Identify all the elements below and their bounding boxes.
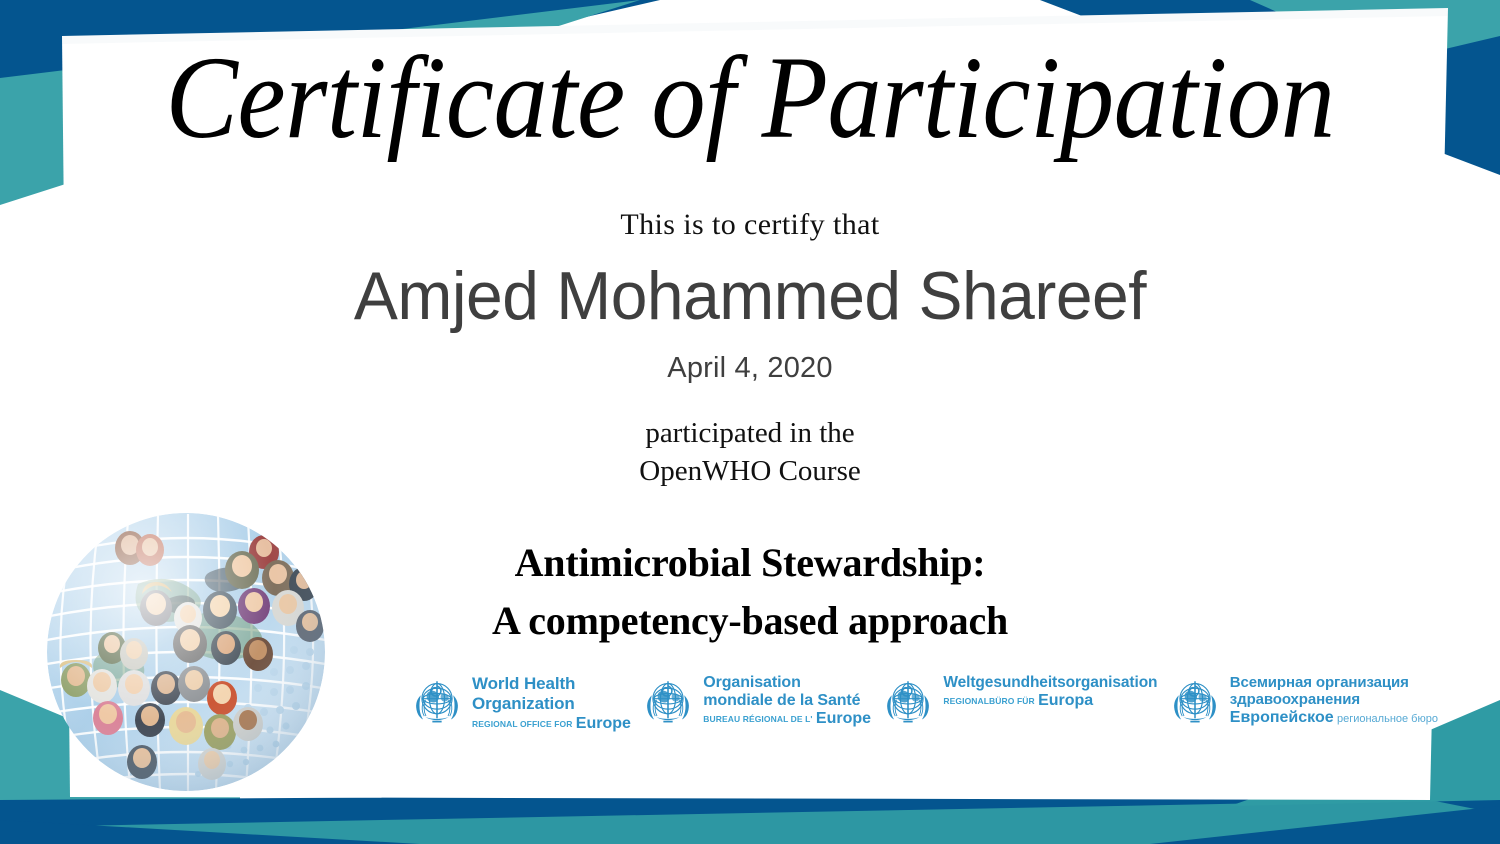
logo-region-name: Europa [1038,692,1093,709]
logo-who-french: Organisation mondiale de la Santé BUREAU… [639,672,871,735]
course-title: Antimicrobial Stewardship: A competency-… [0,534,1500,650]
logo-region-tail: региональное бюро [1337,713,1438,725]
who-emblem-icon [1166,672,1224,735]
logo-name-line-2: mondiale de la Santé [703,692,871,710]
logo-region-prefix: REGIONAL OFFICE FOR [472,719,572,729]
logo-name-line-1: Всемирная организация [1230,674,1409,691]
logo-region-prefix: BUREAU RÉGIONAL DE L' [703,714,812,724]
who-emblem-icon [639,672,697,735]
logo-name-line-1: World Health [472,674,575,693]
logo-who-russian: Всемирная организация здравоохранения Ев… [1166,672,1438,735]
logo-region-name: Europe [576,715,631,732]
logo-who-english: World Health Organization REGIONAL OFFIC… [408,672,631,735]
logo-text-german: Weltgesundheitsorganisation REGIONALBÜRO… [943,672,1157,710]
recipient-name: Amjed Mohammed Shareef [23,262,1478,330]
certify-line: This is to certify that [0,208,1500,242]
logo-who-german: Weltgesundheitsorganisation REGIONALBÜRO… [879,672,1157,735]
logo-region-name: Европейское [1230,709,1334,726]
who-emblem-icon [879,672,937,735]
logo-name-line-2: Organization [472,694,631,713]
logo-name-line-2: здравоохранения [1230,692,1438,709]
logo-region-prefix: REGIONALBÜRO FÜR [943,696,1034,706]
logo-name-line-1: Organisation [703,674,800,691]
who-emblem-icon [408,672,466,735]
course-title-line-2: A competency-based approach [0,592,1500,650]
logo-text-english: World Health Organization REGIONAL OFFIC… [472,672,631,733]
issue-date: April 4, 2020 [0,352,1500,385]
logo-text-russian: Всемирная организация здравоохранения Ев… [1230,672,1438,727]
certificate-page: Certificate of Participation This is to … [0,0,1500,844]
who-logo-strip: World Health Organization REGIONAL OFFIC… [408,672,1438,752]
page-title: Certificate of Participation [60,36,1440,160]
logo-text-french: Organisation mondiale de la Santé BUREAU… [703,672,871,728]
participation-line-1: participated in the [0,414,1500,452]
participation-statement: participated in the OpenWHO Course [0,414,1500,491]
course-title-line-1: Antimicrobial Stewardship: [0,534,1500,592]
certificate-content: Certificate of Participation This is to … [0,0,1500,844]
participation-line-2: OpenWHO Course [0,452,1500,490]
logo-region-name: Europe [816,710,871,727]
logo-name-line-1: Weltgesundheitsorganisation [943,674,1157,691]
